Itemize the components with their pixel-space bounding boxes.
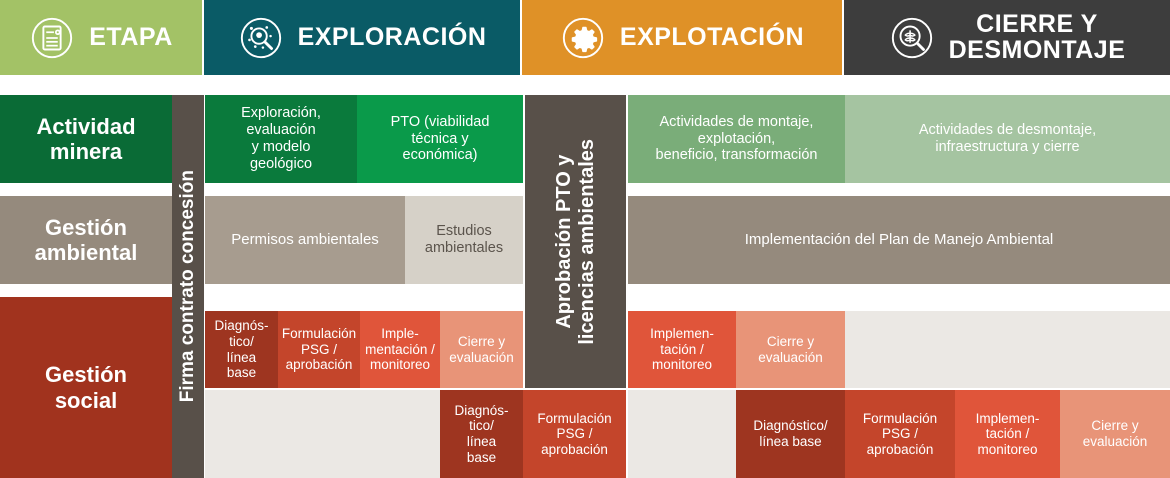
social-cell-upper[interactable]: Diagnós- tico/ línea base bbox=[205, 311, 278, 388]
social-cell-upper bbox=[845, 311, 1170, 388]
stage-header-3[interactable]: EXPLOTACIÓN bbox=[522, 0, 842, 75]
row-label-text: Gestión social bbox=[45, 362, 127, 413]
row-label-actividad-minera: Actividad minera bbox=[0, 95, 172, 183]
social-cell-upper[interactable]: Cierre y evaluación bbox=[736, 311, 845, 388]
magnifier-minerals-icon bbox=[238, 15, 284, 61]
mining-lifecycle-diagram: ETAPAEXPLORACIÓNEXPLOTACIÓNCIERRE Y DESM… bbox=[0, 0, 1170, 478]
stage-header-content: CIERRE Y DESMONTAJE bbox=[889, 12, 1126, 63]
social-cell-lower bbox=[628, 390, 736, 478]
magnifier-plant-icon bbox=[889, 15, 935, 61]
social-cell-lower[interactable]: Implemen- tación / monitoreo bbox=[955, 390, 1060, 478]
document-list-icon bbox=[29, 15, 75, 61]
stage-header-label: EXPLORACIÓN bbox=[298, 25, 487, 51]
social-cell-lower[interactable]: Diagnóstico/ línea base bbox=[736, 390, 845, 478]
vertical-milestone-label: Aprobación PTO y licencias ambientales bbox=[553, 139, 599, 345]
social-cell-lower[interactable]: Formulación PSG / aprobación bbox=[523, 390, 626, 478]
social-cell-lower[interactable]: Cierre y evaluación bbox=[1060, 390, 1170, 478]
stage-header-4[interactable]: CIERRE Y DESMONTAJE bbox=[844, 0, 1170, 75]
vertical-milestone-label: Firma contrato concesión bbox=[177, 170, 199, 402]
row-label-text: Actividad minera bbox=[36, 114, 135, 165]
row-label-gestion-social: Gestión social bbox=[0, 297, 172, 478]
row-label-text: Gestión ambiental bbox=[35, 215, 138, 266]
stage-header-label: EXPLOTACIÓN bbox=[620, 25, 804, 51]
stage-header-1[interactable]: ETAPA bbox=[0, 0, 202, 75]
row-label-gestion-ambiental: Gestión ambiental bbox=[0, 196, 172, 284]
gear-icon bbox=[560, 15, 606, 61]
social-cell-upper[interactable]: Cierre y evaluación bbox=[440, 311, 523, 388]
activity-cell[interactable]: Actividades de montaje, explotación, ben… bbox=[628, 95, 845, 183]
social-cell-lower[interactable]: Diagnós- tico/ línea base bbox=[440, 390, 523, 478]
vertical-milestone-bar-1[interactable]: Firma contrato concesión bbox=[172, 95, 204, 478]
activity-cell[interactable]: Permisos ambientales bbox=[205, 196, 405, 284]
stage-header-content: ETAPA bbox=[29, 15, 173, 61]
social-cell-upper[interactable]: Implemen- tación / monitoreo bbox=[628, 311, 736, 388]
stage-header-content: EXPLORACIÓN bbox=[238, 15, 487, 61]
social-cell-lower bbox=[205, 390, 440, 478]
activity-cell[interactable]: Exploración, evaluación y modelo geológi… bbox=[205, 95, 357, 183]
stage-header-2[interactable]: EXPLORACIÓN bbox=[204, 0, 520, 75]
activity-cell[interactable]: PTO (viabilidad técnica y económica) bbox=[357, 95, 523, 183]
activity-cell[interactable]: Implementación del Plan de Manejo Ambien… bbox=[628, 196, 1170, 284]
social-cell-lower[interactable]: Formulación PSG / aprobación bbox=[845, 390, 955, 478]
stage-header-content: EXPLOTACIÓN bbox=[560, 15, 804, 61]
vertical-milestone-bar-2[interactable]: Aprobación PTO y licencias ambientales bbox=[525, 95, 626, 388]
activity-cell[interactable]: Actividades de desmontaje, infraestructu… bbox=[845, 95, 1170, 183]
activity-cell[interactable]: Estudios ambientales bbox=[405, 196, 523, 284]
stage-header-label: CIERRE Y DESMONTAJE bbox=[949, 12, 1126, 63]
social-cell-upper[interactable]: Formulación PSG / aprobación bbox=[278, 311, 360, 388]
social-cell-upper[interactable]: Imple- mentación / monitoreo bbox=[360, 311, 440, 388]
stage-header-label: ETAPA bbox=[89, 25, 173, 51]
